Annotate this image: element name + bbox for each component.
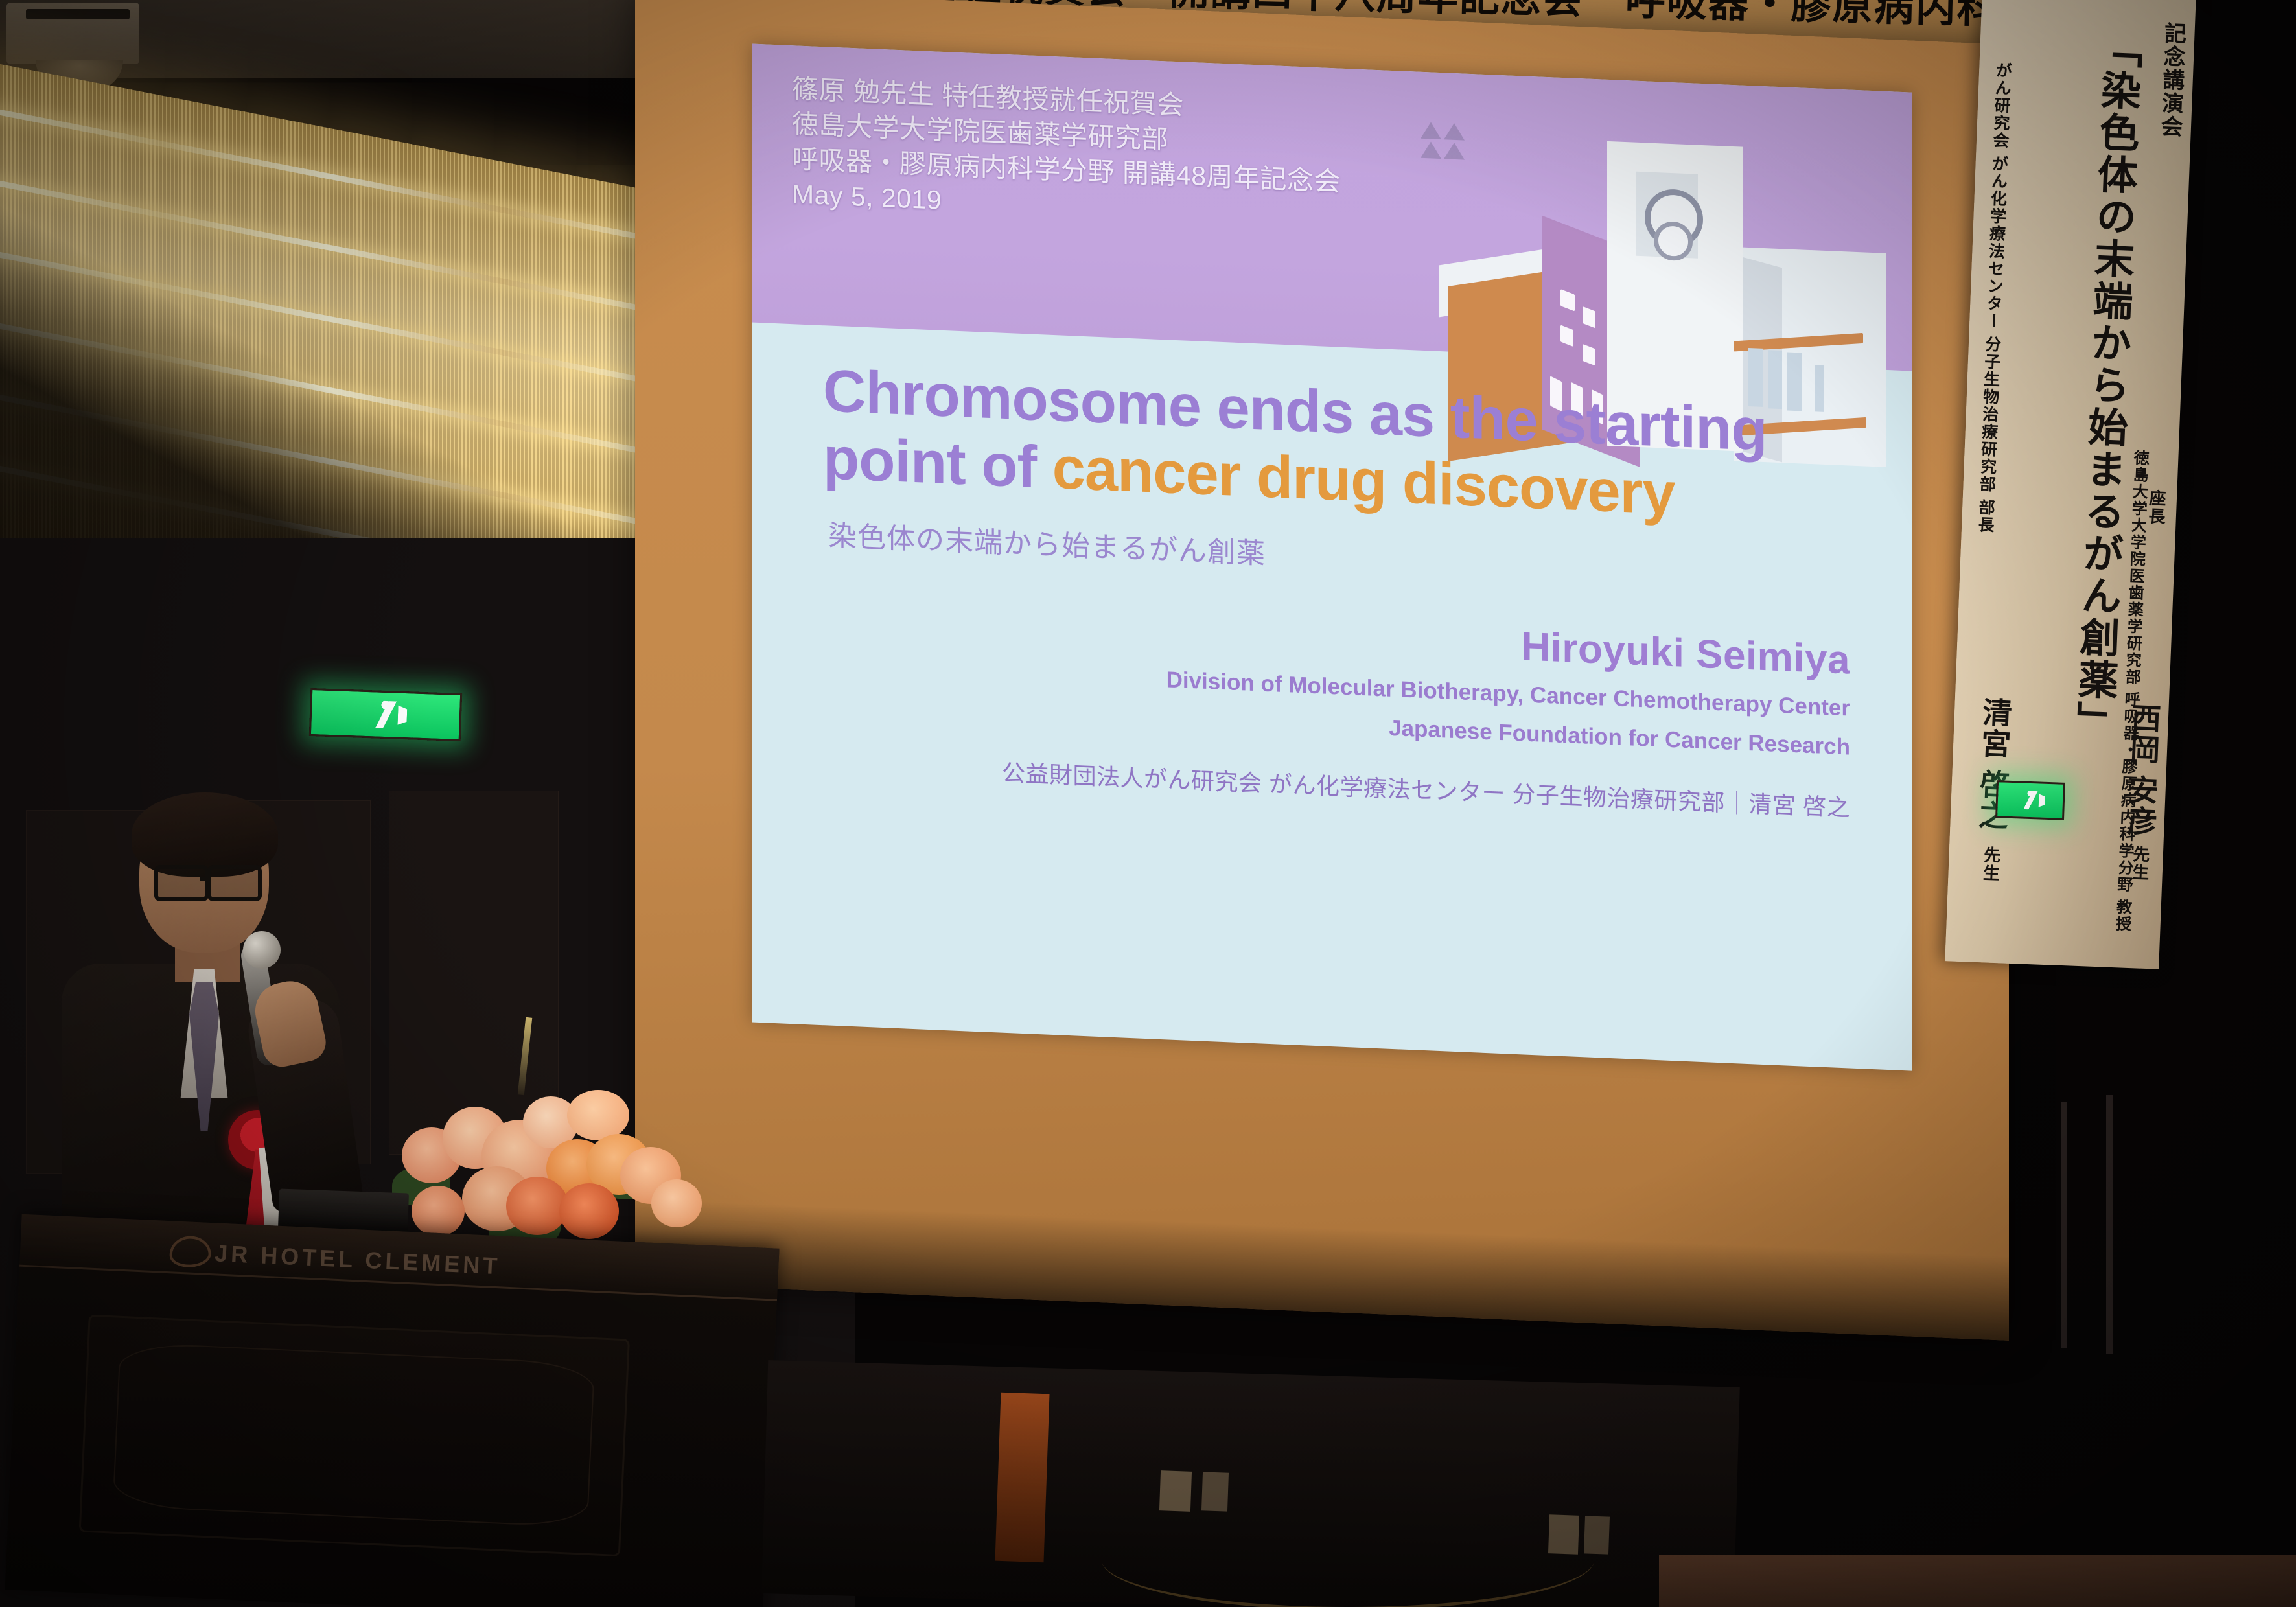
eyeglasses-left-lens — [154, 865, 209, 901]
wall-outlet — [1159, 1470, 1192, 1512]
presenter-affiliation-japanese: 公益財団法人がん研究会 がん化学療法センター 分子生物治療研究部｜清宮 啓之 — [1002, 754, 1850, 824]
wall-outlet — [1201, 1472, 1229, 1511]
banner-speaker-org: がん研究会 がん化学療法センター 分子生物治療研究部 部長 — [1977, 62, 2011, 534]
banner-chair-name: 西岡 安彦 — [2125, 702, 2160, 837]
power-cable — [1102, 1510, 1594, 1607]
ac-vent — [26, 9, 130, 19]
banner-heading: 記念講演会 — [2158, 21, 2185, 139]
presenter-affiliation-line2: Japanese Foundation for Cancer Research — [1389, 715, 1850, 761]
running-person-exit-icon — [374, 700, 397, 728]
door-light-gap — [995, 1393, 1049, 1562]
presenter-name: Hiroyuki Seimiya — [1521, 623, 1850, 683]
emergency-exit-sign-left — [309, 688, 462, 741]
stand-pole — [2106, 1095, 2113, 1354]
slide-header-band: 篠原 勉先生 特任教授就任祝賀会 徳島大学大学院医歯薬学研究部 呼吸器・膠原病内… — [752, 44, 1912, 371]
presentation-slide: 篠原 勉先生 特任教授就任祝賀会 徳島大学大学院医歯薬学研究部 呼吸器・膠原病内… — [752, 44, 1912, 1071]
presentation-room-photo: 特任祝賀会・開講四十八周年記念会 呼吸器・膠原病内科学分野 篠原 勉先生 特任教… — [0, 0, 2296, 1607]
running-person-exit-icon — [2023, 791, 2038, 809]
ceiling-ac-unit-icon — [6, 3, 139, 64]
speaker-hair — [132, 792, 278, 877]
banner-speaker-honorific: 先生 — [1982, 846, 2000, 883]
eyeglasses-right-lens — [207, 865, 262, 901]
carpet-floor — [1659, 1555, 2296, 1607]
slide-subtitle-japanese: 染色体の末端から始まるがん創薬 — [828, 512, 1266, 572]
emergency-exit-sign-right — [1995, 780, 2065, 820]
eyeglasses-bridge — [200, 877, 210, 881]
banner-chair-honorific: 先生 — [2131, 845, 2149, 882]
podium: JR HOTEL CLEMENT — [5, 1214, 779, 1607]
stand-pole — [2061, 1102, 2067, 1348]
hanging-vertical-banner: 記念講演会 「染色体の末端から始まるがん創薬」 がん研究会 がん化学療法センター… — [1945, 0, 2196, 969]
institute-logo-icon — [1418, 121, 1476, 168]
slide-header-text: 篠原 勉先生 特任教授就任祝賀会 徳島大学大学院医歯薬学研究部 呼吸器・膠原病内… — [792, 71, 1341, 235]
podium-front-panel-inner — [112, 1342, 595, 1528]
slide-title-line2-plain: point of — [823, 425, 1052, 501]
floral-arrangement — [373, 1056, 703, 1251]
projection-screen-frame: 篠原 勉先生 特任教授就任祝賀会 徳島大学大学院医歯薬学研究部 呼吸器・膠原病内… — [635, 0, 2009, 1341]
banner-chair-label: 座長 — [2147, 489, 2165, 526]
